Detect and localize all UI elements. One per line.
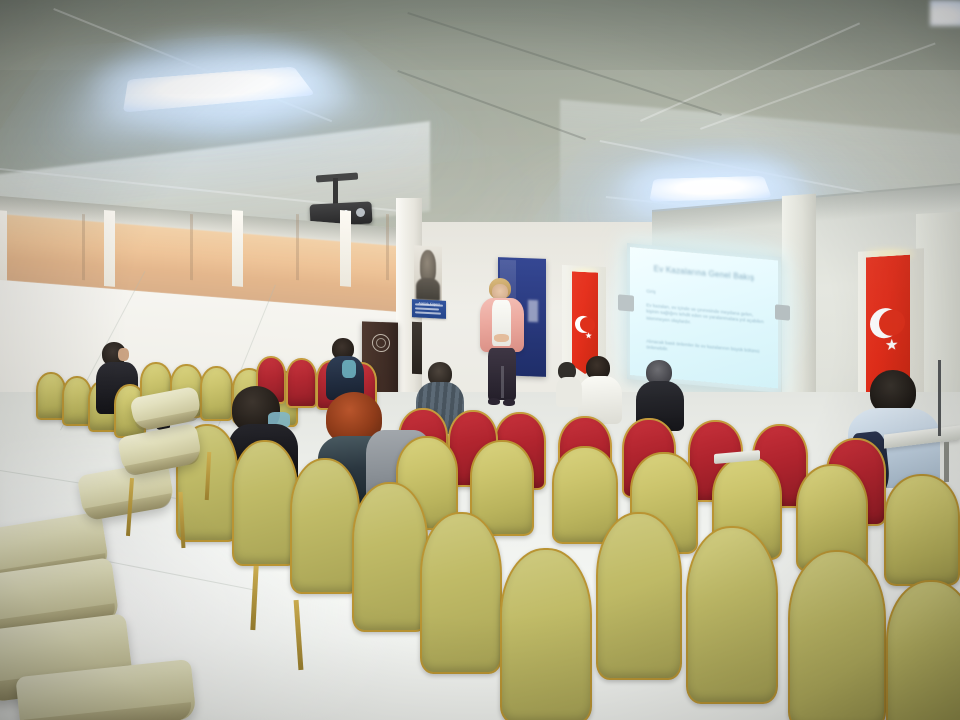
wall-plaque: Atatürk Köşesi — [412, 299, 446, 319]
chair-gold[interactable] — [788, 550, 886, 720]
chair-back — [290, 458, 360, 594]
screen-bracket — [775, 304, 790, 320]
portrait-body — [416, 277, 440, 300]
chair-gold[interactable] — [686, 526, 778, 704]
attendee-scarf — [342, 360, 356, 378]
chair-back — [886, 580, 960, 720]
table-leg — [944, 442, 949, 482]
wall-panel-seam — [82, 214, 85, 280]
attendee-torso — [556, 377, 582, 407]
chair-gold[interactable] — [352, 482, 428, 632]
ceiling-light-right — [649, 176, 772, 202]
presenter-leg-gap — [501, 366, 504, 398]
slide-bullet: Alınacak basit önlemler ile ev kazaların… — [646, 338, 764, 362]
chair-gold[interactable] — [886, 580, 960, 720]
projector-mount-pole — [333, 178, 338, 204]
chair-back — [500, 548, 592, 720]
presenter — [476, 278, 530, 414]
wall-panel-seam — [296, 214, 299, 280]
emblem-seal-icon — [376, 338, 386, 348]
chair-gold[interactable] — [290, 458, 360, 594]
chair-back — [788, 550, 886, 720]
wall-pilaster — [104, 210, 115, 287]
chair-gold[interactable] — [596, 512, 682, 680]
presenter-shoe — [503, 399, 515, 406]
photo-scene: Ev Kazalarına Genel Bakış Giriş Ev kazal… — [0, 0, 960, 720]
wall-pilaster — [0, 210, 7, 287]
ceiling-light-corner — [930, 0, 960, 26]
chair-back — [352, 482, 428, 632]
chair-back — [420, 512, 502, 674]
chair-gold[interactable] — [500, 548, 592, 720]
wall-panel-seam — [386, 214, 389, 280]
slide-subtitle: Giriş — [646, 288, 655, 294]
presenter-hands — [494, 334, 509, 342]
wall-panel-seam — [190, 214, 193, 280]
chair-gold[interactable] — [232, 440, 298, 566]
wall-pilaster — [232, 210, 243, 287]
chair-back — [686, 526, 778, 704]
screen-bracket — [618, 294, 634, 311]
slide-bullet: Ev kazaları, ev içinde ve çevresinde mey… — [646, 302, 764, 333]
wall-pilaster — [340, 210, 351, 287]
chair-gold[interactable] — [884, 474, 960, 586]
presenter-shoe — [488, 398, 500, 405]
slide-title: Ev Kazalarına Genel Bakış — [648, 264, 760, 283]
attendee-face — [118, 348, 129, 361]
mic-stand[interactable] — [938, 360, 941, 436]
chair-back — [232, 440, 298, 566]
chair-back — [596, 512, 682, 680]
chair-gold[interactable] — [420, 512, 502, 674]
projector-lens-icon — [356, 208, 365, 217]
attendee-back-row — [556, 362, 584, 410]
photo-caption: A woman presents to a seated audience in… — [0, 711, 960, 720]
chair-back — [884, 474, 960, 586]
